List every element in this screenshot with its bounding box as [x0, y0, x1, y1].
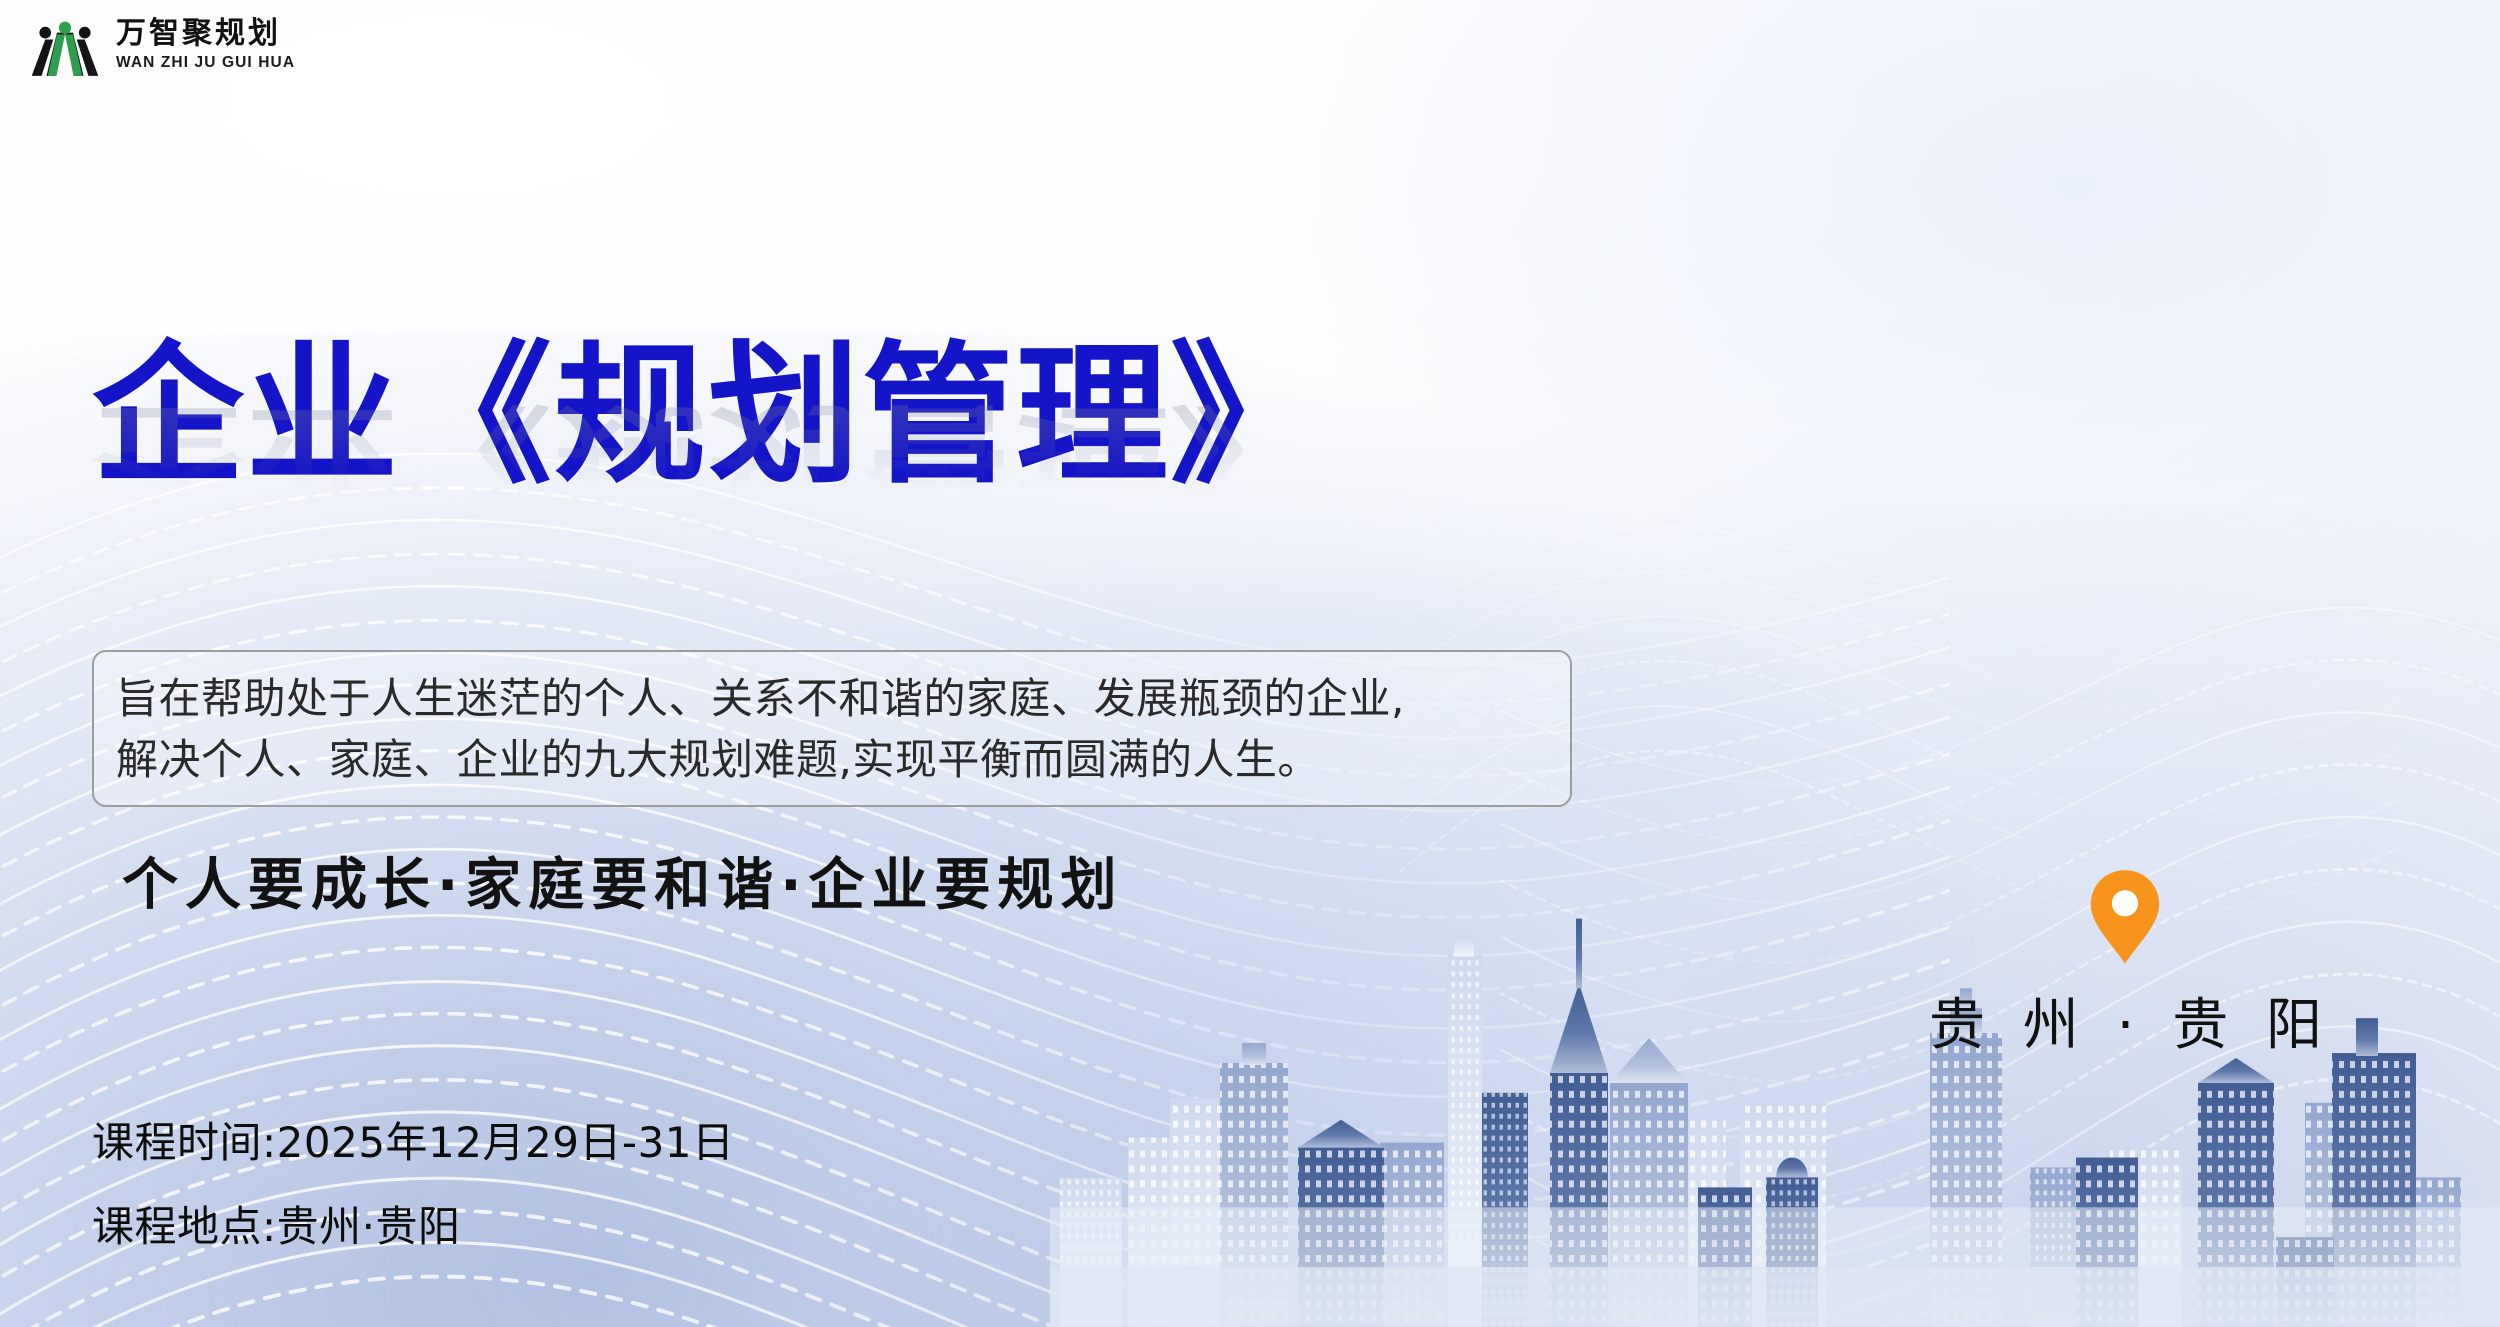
description-line-1: 旨在帮助处于人生迷茫的个人、关系不和谐的家庭、发展瓶颈的企业,	[116, 668, 1548, 729]
brand-name-cn: 万智聚规划	[116, 17, 295, 51]
description-line-2: 解决个人、家庭、企业的九大规划难题,实现平衡而圆满的人生。	[116, 729, 1548, 790]
hero-title-block: 企业《规划管理》 企业《规划管理》	[92, 338, 1652, 650]
course-time-line: 课程时间:2025年12月29日-31日	[92, 1122, 735, 1164]
page-title-reflection: 企业《规划管理》	[92, 399, 1652, 495]
slogan-text: 个人要成长·家庭要和谐·企业要规划	[122, 840, 1124, 921]
brand-logo-text: 万智聚规划 WAN ZHI JU GUI HUA	[116, 17, 295, 72]
course-place-line: 课程地点:贵州·贵阳	[92, 1206, 735, 1248]
location-block: 贵 州 · 贵 阳	[1919, 868, 2332, 1061]
brand-logo[interactable]: 万智聚规划 WAN ZHI JU GUI HUA	[28, 14, 295, 76]
course-info-block: 课程时间:2025年12月29日-31日 课程地点:贵州·贵阳	[92, 1122, 735, 1248]
brand-name-pinyin: WAN ZHI JU GUI HUA	[116, 54, 295, 73]
map-pin-icon	[2088, 868, 2162, 966]
description-box: 旨在帮助处于人生迷茫的个人、关系不和谐的家庭、发展瓶颈的企业, 解决个人、家庭、…	[92, 650, 1572, 807]
poster-canvas: 万智聚规划 WAN ZHI JU GUI HUA 企业《规划管理》 企业《规划管…	[0, 0, 2500, 1327]
location-label: 贵 州 · 贵 阳	[1919, 980, 2332, 1061]
three-people-logo-icon	[28, 14, 102, 76]
